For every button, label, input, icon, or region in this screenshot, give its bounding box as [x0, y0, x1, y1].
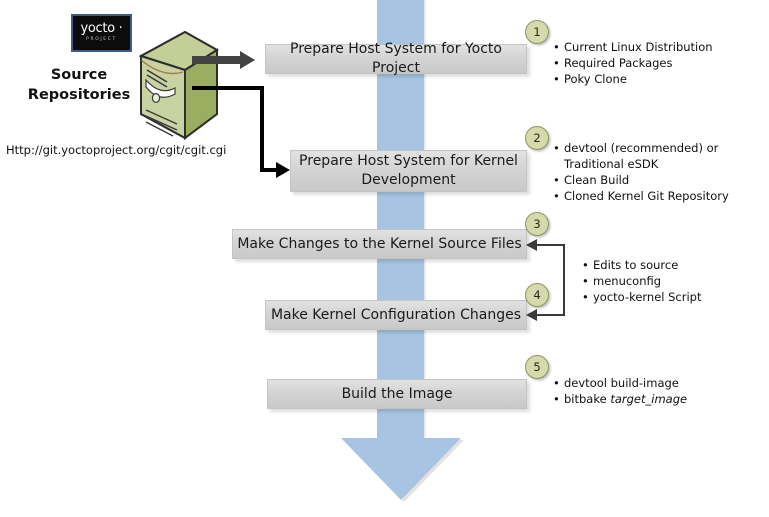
step5-bullet1-text: devtool build-image [564, 376, 679, 390]
list-item: Current Linux Distribution [564, 39, 761, 55]
steps-3-4-shared-bullets: Edits to source menuconfig yocto-kernel … [580, 257, 769, 305]
bracket-arrowhead-step3-icon [526, 239, 537, 251]
step-box-1[interactable]: Prepare Host System for Yocto Project [265, 44, 527, 74]
spine-arrow-head-icon [341, 438, 461, 500]
step-circle-3: 3 [525, 212, 549, 236]
source-repository-url: Http://git.yoctoproject.org/cgit/cgit.cg… [6, 143, 226, 157]
step-circle-2: 2 [525, 126, 549, 150]
step-5-bullets: devtool build-image bitbake target_image [551, 375, 751, 407]
step-1-bullets: Current Linux Distribution Required Pack… [551, 39, 761, 87]
yocto-logo-wordmark: yocto · [80, 22, 122, 35]
bracket-vertical-steps34 [563, 244, 565, 316]
yocto-logo: yocto · PROJECT [71, 14, 132, 52]
list-item: Poky Clone [564, 71, 761, 87]
list-item: Clean Build [564, 172, 756, 188]
step5-bullet2-text: bitbake [564, 392, 610, 406]
step-box-3-label: Make Changes to the Kernel Source Files [237, 235, 521, 254]
source-label-line2: Repositories [14, 85, 144, 105]
step-circle-3-number: 3 [533, 217, 540, 231]
connector-server-to-step2-arrowhead-icon [276, 162, 290, 178]
step-circle-1-number: 1 [533, 25, 540, 39]
list-item: Edits to source [593, 257, 769, 273]
step-box-5-label: Build the Image [342, 385, 453, 404]
step-box-3[interactable]: Make Changes to the Kernel Source Files [232, 229, 527, 259]
connector-server-to-step2-vertical [260, 86, 264, 172]
bracket-arrowhead-step4-icon [526, 309, 537, 321]
connector-server-to-step1-arrowhead-icon [240, 51, 255, 69]
step-circle-5-number: 5 [533, 360, 540, 374]
yocto-logo-subtext: PROJECT [86, 36, 117, 44]
list-item: Required Packages [564, 55, 761, 71]
list-item: bitbake target_image [564, 391, 751, 407]
step-circle-1: 1 [525, 20, 549, 44]
list-item: Cloned Kernel Git Repository [564, 188, 756, 204]
step-circle-5: 5 [525, 355, 549, 379]
source-label-line1: Source [14, 65, 144, 85]
list-item: devtool build-image [564, 375, 751, 391]
step-box-2-label: Prepare Host System for Kernel Developme… [291, 152, 526, 190]
connector-server-to-step1 [192, 56, 240, 64]
source-repositories-label: Source Repositories [14, 65, 144, 105]
step-circle-2-number: 2 [533, 131, 540, 145]
step-box-1-label: Prepare Host System for Yocto Project [266, 40, 526, 78]
step-2-bullets: devtool (recommended) or Traditional eSD… [551, 140, 756, 204]
connector-server-to-step2-horizontal [192, 86, 264, 90]
server-tower-icon [133, 30, 219, 140]
step-box-2[interactable]: Prepare Host System for Kernel Developme… [290, 150, 527, 192]
list-item: menuconfig [593, 273, 769, 289]
bracket-arm-step4 [537, 314, 565, 316]
step-box-4-label: Make Kernel Configuration Changes [271, 306, 521, 325]
step-circle-4: 4 [525, 283, 549, 307]
list-item: yocto-kernel Script [593, 289, 769, 305]
step-box-4[interactable]: Make Kernel Configuration Changes [265, 300, 527, 330]
list-item: devtool (recommended) or Traditional eSD… [564, 140, 756, 172]
bracket-arm-step3 [537, 244, 565, 246]
step-circle-4-number: 4 [533, 288, 540, 302]
step-box-5[interactable]: Build the Image [267, 379, 527, 409]
step5-bullet2-italic: target_image [610, 392, 687, 406]
workflow-diagram: yocto · PROJECT Source Repositories Http… [0, 0, 769, 517]
